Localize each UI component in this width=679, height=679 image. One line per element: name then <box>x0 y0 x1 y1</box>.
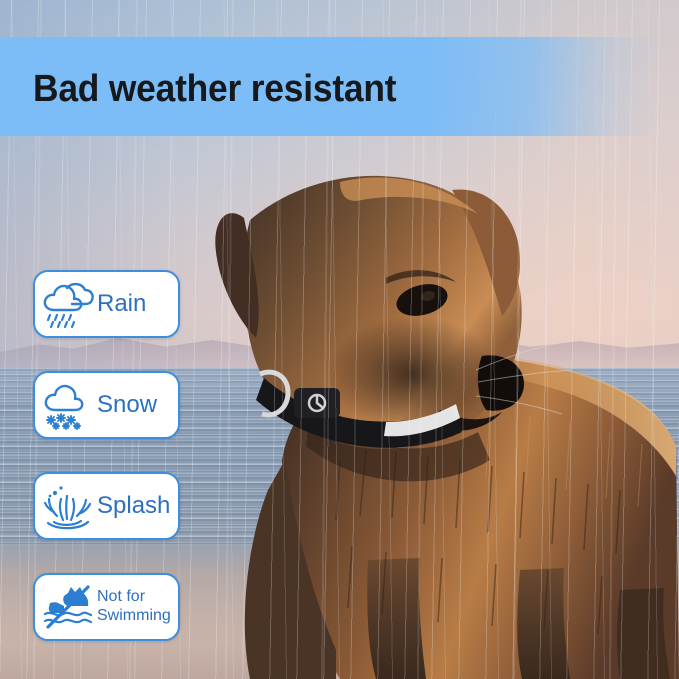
feature-badge-list: Rain <box>33 270 180 641</box>
product-feature-image: Bad weather resistant Rain <box>0 0 679 679</box>
dog-subject <box>190 160 679 679</box>
snow-cloud-icon <box>39 377 97 433</box>
badge-label-line-1: Not for <box>97 588 145 605</box>
badge-label-line-2: Swimming <box>97 607 171 624</box>
badge-rain[interactable]: Rain <box>33 270 180 338</box>
water-splash-icon <box>39 478 97 534</box>
rain-cloud-icon <box>39 276 97 332</box>
no-swimming-dog-icon <box>39 579 97 635</box>
badge-not-for-swimming[interactable]: Not for Swimming <box>33 573 180 641</box>
badge-splash[interactable]: Splash <box>33 472 180 540</box>
badge-label-not-for-swimming: Not for Swimming <box>97 588 171 626</box>
page-title: Bad weather resistant <box>33 68 396 111</box>
badge-label-splash: Splash <box>97 493 170 518</box>
badge-label-rain: Rain <box>97 291 146 316</box>
badge-label-snow: Snow <box>97 392 157 417</box>
badge-snow[interactable]: Snow <box>33 371 180 439</box>
